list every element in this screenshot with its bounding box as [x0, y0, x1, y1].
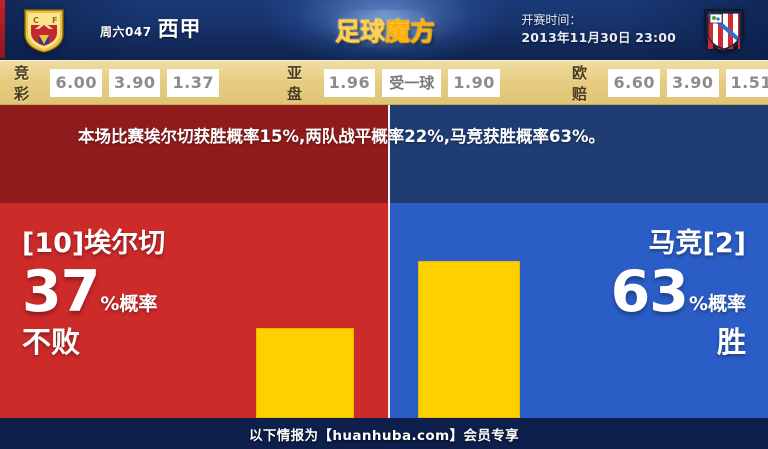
probability-bar-home: [256, 328, 354, 418]
home-panel-top-band: [0, 105, 388, 203]
odds-group-oupei: 欧赔 6.60 3.90 1.51: [572, 62, 768, 104]
odds-cell-handicap[interactable]: 受一球: [382, 69, 441, 97]
odds-cell-home[interactable]: 6.60: [608, 69, 660, 97]
header-red-edge: [0, 0, 5, 58]
prediction-panels: 本场比赛埃尔切获胜概率15%,两队战平概率22%,马竞获胜概率63%。 [10]…: [0, 105, 768, 418]
brand-logo-part2: 魔方: [385, 12, 435, 48]
odds-cell-away[interactable]: 1.90: [448, 69, 500, 97]
panel-divider: [388, 105, 390, 418]
odds-group-jingcai: 竞彩 6.00 3.90 1.37: [14, 62, 219, 104]
match-label: 周六047 西甲: [100, 13, 202, 43]
match-round: 周六047: [100, 23, 152, 40]
odds-cell-home[interactable]: 6.00: [50, 69, 102, 97]
footer-text: 以下情报为【huanhuba.com】会员专享: [249, 424, 519, 444]
match-prediction-card: C F 周六047 西甲 足球魔方 开赛时间： 2013年11月30日 23:0…: [0, 0, 768, 449]
match-league: 西甲: [158, 13, 202, 43]
odds-cell-home[interactable]: 1.96: [324, 69, 376, 97]
away-probability-suffix: %概率: [689, 295, 746, 319]
atletico-madrid-crest-icon: [702, 7, 746, 53]
home-probability-value: 37: [22, 265, 99, 319]
elche-cf-crest-icon: C F: [22, 7, 66, 53]
odds-group-title: 欧赔: [572, 62, 601, 104]
home-probability-suffix: %概率: [100, 295, 157, 319]
member-footer: 以下情报为【huanhuba.com】会员专享: [0, 418, 768, 449]
away-verdict: 胜: [611, 324, 746, 360]
svg-text:F: F: [52, 16, 57, 25]
odds-cell-away[interactable]: 1.37: [167, 69, 219, 97]
match-header: C F 周六047 西甲 足球魔方 开赛时间： 2013年11月30日 23:0…: [0, 0, 768, 60]
odds-group-title: 竞彩: [14, 62, 43, 104]
home-team-name: [10]埃尔切: [22, 227, 165, 261]
home-verdict: 不败: [22, 324, 165, 360]
away-team-name: 马竞[2]: [611, 227, 746, 261]
away-probability-value: 63: [611, 265, 688, 319]
probability-bar-away: [418, 261, 520, 418]
away-team-block: 马竞[2] 63 %概率 胜: [611, 227, 746, 360]
kickoff-info: 开赛时间： 2013年11月30日 23:00: [521, 12, 676, 47]
brand-logo[interactable]: 足球魔方: [330, 10, 440, 50]
kickoff-label: 开赛时间：: [521, 12, 676, 29]
odds-group-title: 亚盘: [287, 62, 317, 104]
odds-bar: 竞彩 6.00 3.90 1.37 亚盘 1.96 受一球 1.90 欧赔 6.…: [0, 60, 768, 105]
odds-cell-draw[interactable]: 3.90: [667, 69, 719, 97]
kickoff-time: 2013年11月30日 23:00: [521, 29, 676, 47]
odds-cell-away[interactable]: 1.51: [726, 69, 768, 97]
prediction-headline: 本场比赛埃尔切获胜概率15%,两队战平概率22%,马竞获胜概率63%。: [78, 123, 698, 151]
brand-logo-part1: 足球: [335, 12, 385, 48]
odds-cell-draw[interactable]: 3.90: [109, 69, 161, 97]
home-probability-row: 37 %概率: [22, 265, 165, 319]
away-probability-row: 63 %概率: [611, 265, 746, 319]
svg-text:C: C: [33, 16, 39, 25]
odds-group-yapan: 亚盘 1.96 受一球 1.90: [287, 62, 500, 104]
home-team-block: [10]埃尔切 37 %概率 不败: [22, 227, 165, 360]
away-panel-top-band: [388, 105, 768, 203]
